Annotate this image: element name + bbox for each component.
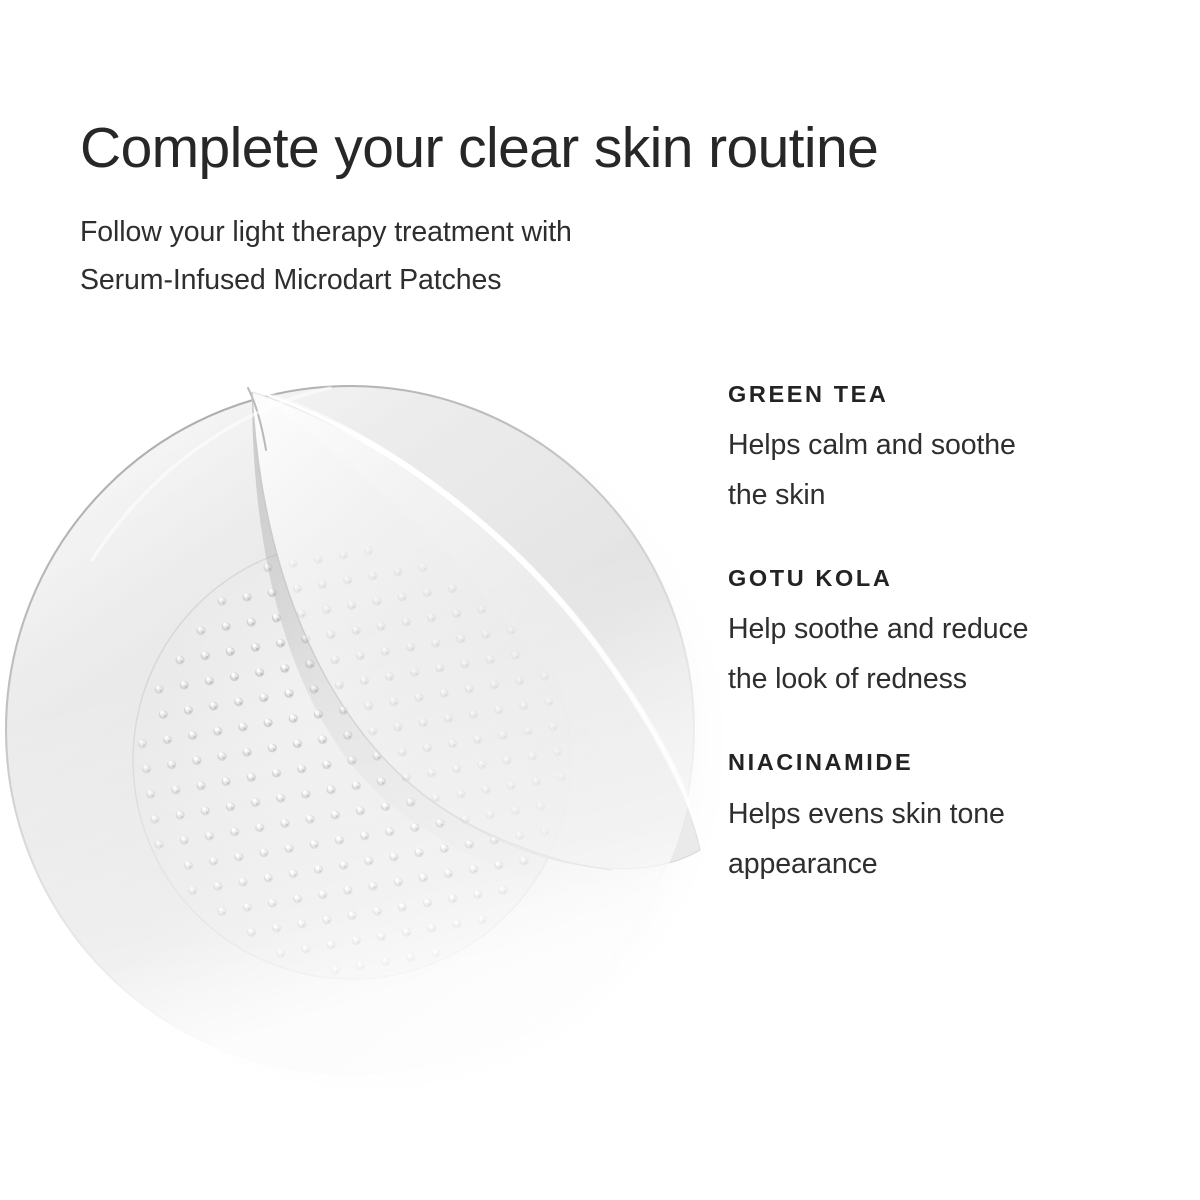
ingredient-name-niacinamide: NIACINAMIDE (728, 748, 1148, 776)
ingredient-name-green-tea: GREEN TEA (728, 380, 1148, 408)
ingredient-desc-line-2: appearance (728, 839, 1148, 889)
ingredient-desc-gotu-kola: Help soothe and reduce the look of redne… (728, 604, 1148, 704)
product-image-stage (0, 330, 800, 1130)
ingredient-item-green-tea: GREEN TEA Helps calm and soothe the skin (728, 380, 1148, 520)
ingredient-desc-niacinamide: Helps evens skin tone appearance (728, 789, 1148, 889)
ingredient-item-niacinamide: NIACINAMIDE Helps evens skin tone appear… (728, 748, 1148, 888)
ingredient-desc-line-1: Help soothe and reduce (728, 604, 1148, 654)
microdart-patch-illustration (0, 330, 800, 1130)
page-subtitle: Follow your light therapy treatment with… (80, 208, 1080, 304)
ingredient-list: GREEN TEA Helps calm and soothe the skin… (728, 380, 1148, 889)
ingredient-name-gotu-kola: GOTU KOLA (728, 564, 1148, 592)
ingredient-desc-green-tea: Helps calm and soothe the skin (728, 420, 1148, 520)
ingredient-desc-line-1: Helps calm and soothe (728, 420, 1148, 470)
page-title: Complete your clear skin routine (80, 118, 1080, 178)
ingredient-desc-line-2: the skin (728, 470, 1148, 520)
ingredient-desc-line-2: the look of redness (728, 654, 1148, 704)
header: Complete your clear skin routine Follow … (80, 118, 1080, 304)
ingredient-desc-line-1: Helps evens skin tone (728, 789, 1148, 839)
page-subtitle-line-2: Serum-Infused Microdart Patches (80, 256, 1080, 304)
ingredient-item-gotu-kola: GOTU KOLA Help soothe and reduce the loo… (728, 564, 1148, 704)
page-subtitle-line-1: Follow your light therapy treatment with (80, 208, 1080, 256)
patch-bottom-fade (4, 384, 696, 1076)
